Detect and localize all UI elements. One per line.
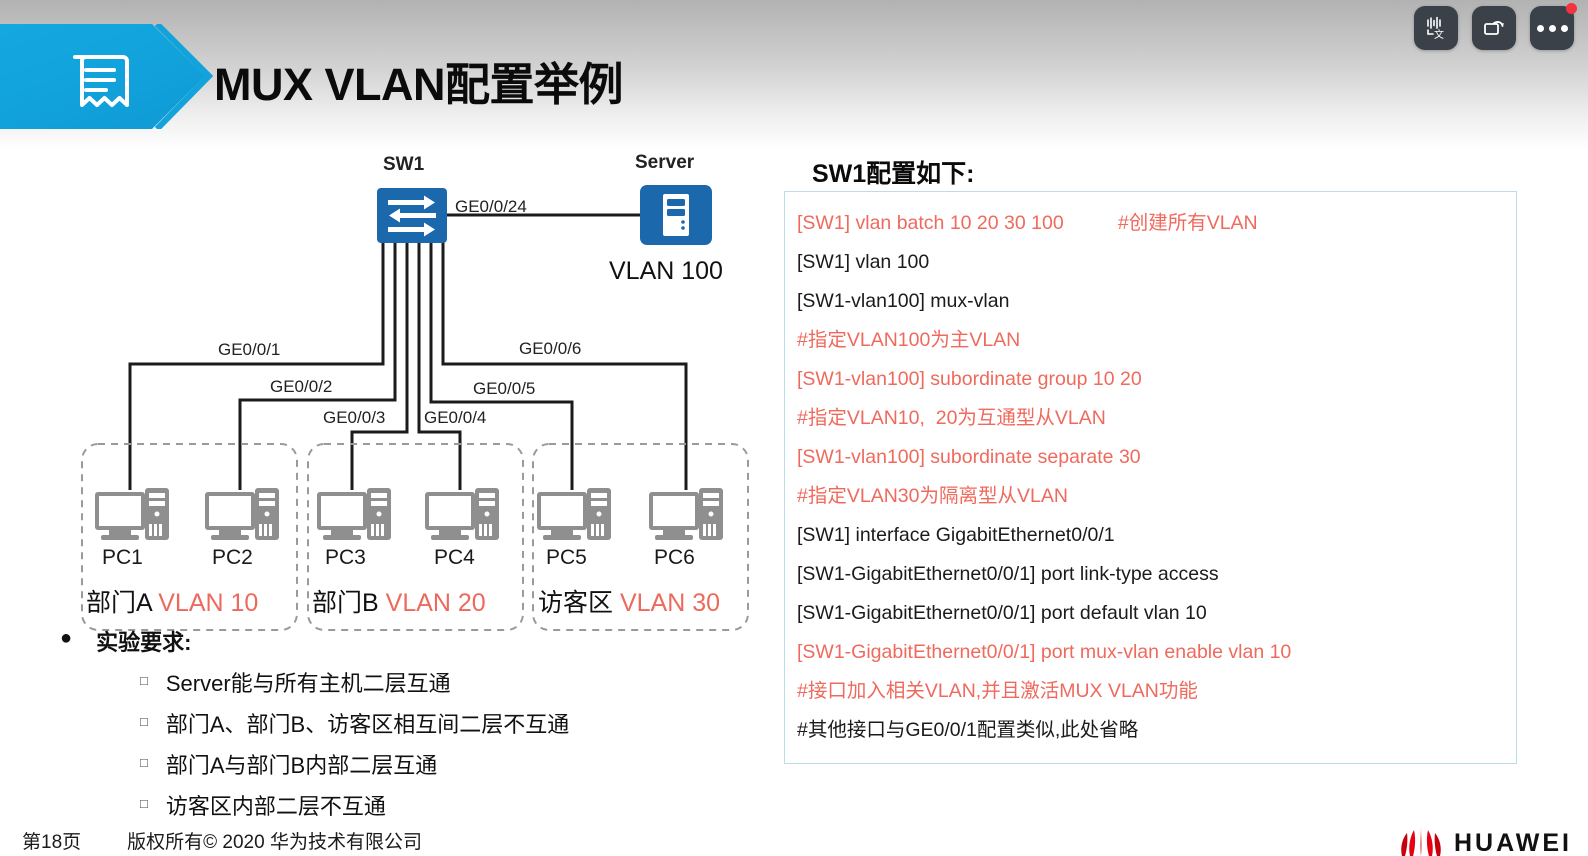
zone-label-b: 部门B VLAN 20: [312, 583, 486, 619]
requirement-text: 部门A、部门B、访客区相互间二层不互通: [166, 707, 569, 739]
bullet-icon: ●: [60, 625, 72, 651]
server-vlan-label: VLAN 100: [609, 257, 723, 286]
requirement-text: 部门A与部门B内部二层互通: [166, 748, 437, 780]
speech-translate-icon: 文: [1423, 15, 1449, 41]
requirements-title: 实验要求:: [96, 625, 191, 657]
pc-label-pc1: PC1: [102, 546, 143, 570]
requirement-text: Server能与所有主机二层互通: [166, 666, 451, 698]
zone-label-c: 访客区 VLAN 30: [538, 583, 720, 619]
speech-translate-button[interactable]: 文: [1414, 6, 1458, 50]
config-line: [SW1-GigabitEthernet0/0/1] port link-typ…: [797, 555, 1516, 594]
port-label-ge0-0-24: GE0/0/24: [455, 197, 527, 217]
slide-footer: 第18页版权所有© 2020 华为技术有限公司: [22, 827, 422, 854]
huawei-flower-icon: [1398, 826, 1444, 856]
pc-label-pc4: PC4: [434, 546, 475, 570]
switch-label: SW1: [383, 154, 424, 176]
requirements-block: ● 实验要求: □ Server能与所有主机二层互通 □ 部门A、部门B、访客区…: [60, 625, 760, 821]
zone-vlan-c: VLAN 30: [620, 589, 720, 617]
huawei-logo: HUAWEI: [1398, 826, 1572, 856]
config-line: [SW1-GigabitEthernet0/0/1] port mux-vlan…: [797, 633, 1516, 672]
banner-chevron-icon: [155, 24, 213, 129]
config-line: #接口加入相关VLAN,并且激活MUX VLAN功能: [797, 672, 1516, 711]
pc-label-pc5: PC5: [546, 546, 587, 570]
pc-label-pc2: PC2: [212, 546, 253, 570]
pc-icons: [95, 488, 723, 540]
zone-vlan-a: VLAN 10: [158, 589, 258, 617]
sub-bullet-icon: □: [140, 666, 148, 696]
more-options-icon: [1537, 25, 1568, 32]
zone-name-a: 部门A: [86, 589, 151, 617]
config-line: [SW1] vlan 100: [797, 243, 1516, 282]
sub-bullet-icon: □: [140, 789, 148, 819]
huawei-wordmark: HUAWEI: [1454, 830, 1572, 856]
slide-canvas: 文 MUX VLAN配置举例: [0, 0, 1588, 856]
zone-vlan-b: VLAN 20: [386, 589, 486, 617]
more-options-button[interactable]: [1530, 6, 1574, 50]
switch-icon: [377, 188, 447, 243]
zone-name-c: 访客区: [538, 589, 613, 617]
requirement-text: 访客区内部二层不互通: [166, 789, 386, 821]
port-label-ge0-0-2: GE0/0/2: [270, 377, 332, 397]
svg-text:文: 文: [1434, 28, 1444, 41]
port-label-ge0-0-6: GE0/0/6: [519, 339, 581, 359]
server-label: Server: [635, 152, 694, 174]
rotate-screen-button[interactable]: [1472, 6, 1516, 50]
requirement-item: □ 访客区内部二层不互通: [60, 789, 760, 821]
page-number: 第18页: [22, 832, 81, 853]
zone-name-b: 部门B: [312, 589, 379, 617]
port-label-ge0-0-4: GE0/0/4: [424, 408, 486, 428]
floating-toolbar: 文: [1414, 6, 1574, 50]
config-line: #其他接口与GE0/0/1配置类似,此处省略: [797, 711, 1516, 750]
document-list-icon: [72, 52, 130, 114]
config-line: #指定VLAN30为隔离型从VLAN: [797, 477, 1516, 516]
requirements-heading: ● 实验要求:: [60, 625, 760, 657]
server-icon: [640, 185, 712, 245]
requirement-item: □ 部门A、部门B、访客区相互间二层不互通: [60, 707, 760, 739]
notification-badge: [1566, 3, 1577, 14]
config-panel: [SW1] vlan batch 10 20 30 100 #创建所有VLAN …: [784, 191, 1517, 764]
zone-label-a: 部门A VLAN 10: [86, 583, 258, 619]
config-line: [SW1-vlan100] mux-vlan: [797, 282, 1516, 321]
config-line: [SW1-vlan100] subordinate group 10 20: [797, 360, 1516, 399]
sub-bullet-icon: □: [140, 707, 148, 737]
requirement-item: □ Server能与所有主机二层互通: [60, 666, 760, 698]
sub-bullet-icon: □: [140, 748, 148, 778]
page-title: MUX VLAN配置举例: [214, 48, 623, 113]
config-line: #指定VLAN100为主VLAN: [797, 321, 1516, 360]
port-label-ge0-0-5: GE0/0/5: [473, 379, 535, 399]
network-topology-diagram: SW1 Server VLAN 100 GE0/0/24 GE0/0/1 GE0…: [0, 140, 775, 640]
pc-label-pc6: PC6: [654, 546, 695, 570]
rotate-screen-icon: [1481, 15, 1507, 41]
config-line: #指定VLAN10, 20为互通型从VLAN: [797, 399, 1516, 438]
port-label-ge0-0-1: GE0/0/1: [218, 340, 280, 360]
copyright-text: 版权所有© 2020 华为技术有限公司: [127, 832, 422, 853]
config-line: [SW1] vlan batch 10 20 30 100 #创建所有VLAN: [797, 204, 1516, 243]
config-panel-title: SW1配置如下:: [812, 154, 975, 190]
requirement-item: □ 部门A与部门B内部二层互通: [60, 748, 760, 780]
port-label-ge0-0-3: GE0/0/3: [323, 408, 385, 428]
config-line: [SW1-vlan100] subordinate separate 30: [797, 438, 1516, 477]
config-line: [SW1-GigabitEthernet0/0/1] port default …: [797, 594, 1516, 633]
pc-label-pc3: PC3: [325, 546, 366, 570]
config-line: [SW1] interface GigabitEthernet0/0/1: [797, 516, 1516, 555]
